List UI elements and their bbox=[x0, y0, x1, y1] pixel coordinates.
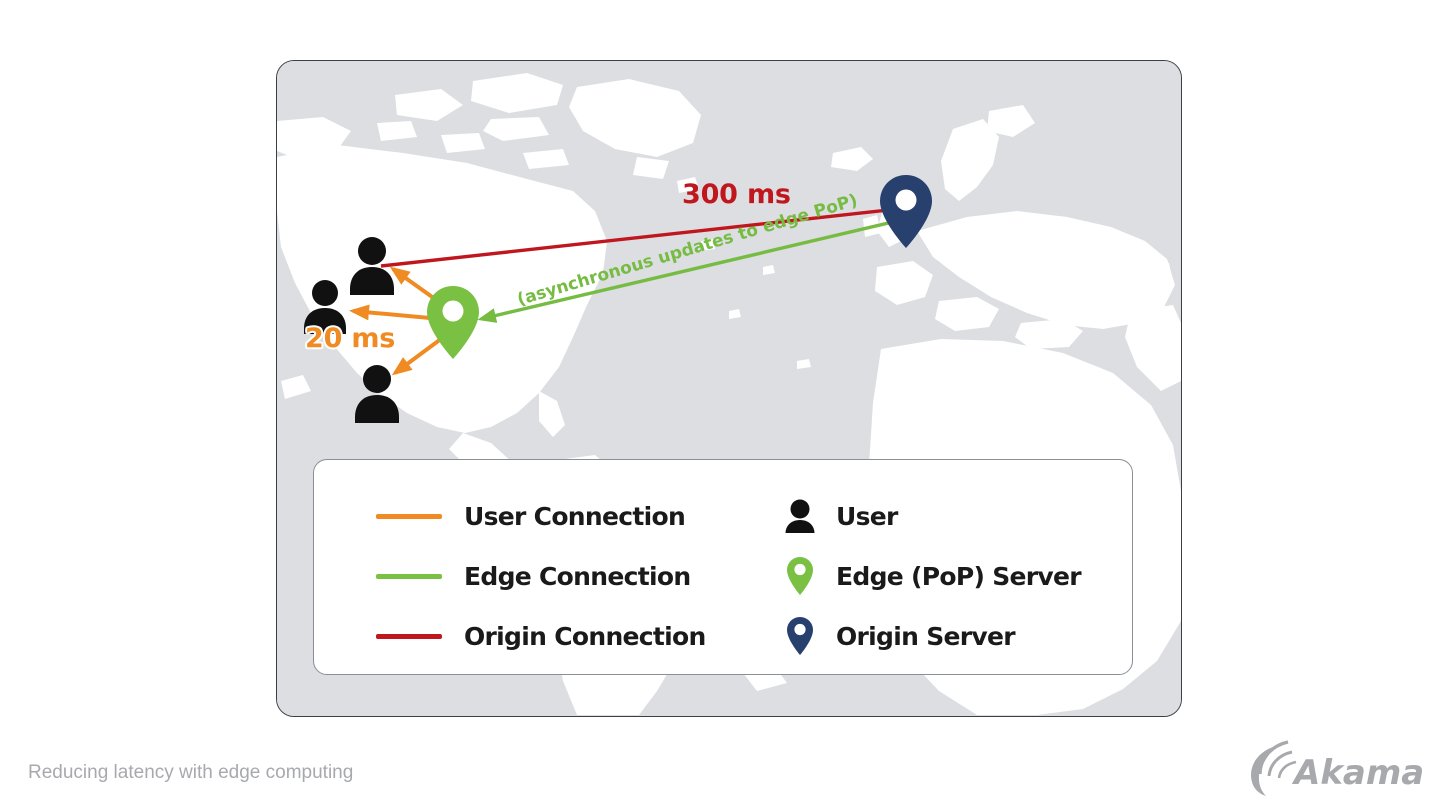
user-icon-south bbox=[355, 365, 399, 423]
legend-item-edge-server: Edge (PoP) Server bbox=[782, 546, 1081, 606]
legend-item-user-connection: User Connection bbox=[376, 486, 706, 546]
user-icon bbox=[782, 496, 818, 536]
map-pin-green-icon bbox=[782, 556, 818, 596]
legend-item-edge-connection: Edge Connection bbox=[376, 546, 706, 606]
line-swatch-red-icon bbox=[376, 634, 442, 639]
legend-column-nodes: User Edge (PoP) Server bbox=[782, 486, 1081, 666]
line-swatch-green-icon bbox=[376, 574, 442, 579]
legend-item-origin-connection: Origin Connection bbox=[376, 606, 706, 666]
line-swatch-orange-icon bbox=[376, 514, 442, 519]
legend-box: User Connection Edge Connection Origin C… bbox=[313, 459, 1133, 675]
figure-caption: Reducing latency with edge computing bbox=[28, 762, 353, 784]
origin-server-pin-icon bbox=[880, 175, 932, 248]
legend-item-user: User bbox=[782, 486, 1081, 546]
akamai-logo: Akamai bbox=[1242, 738, 1422, 800]
legend-label-edge-connection: Edge Connection bbox=[464, 562, 690, 591]
legend-item-origin-server: Origin Server bbox=[782, 606, 1081, 666]
legend-label-edge-server: Edge (PoP) Server bbox=[836, 562, 1081, 591]
edge-connection-line bbox=[481, 221, 897, 319]
edge-pop-server-pin-icon bbox=[427, 286, 479, 359]
world-map-panel: 300 ms 20 ms (asynchronous updates to ed… bbox=[276, 60, 1182, 717]
akamai-wordmark: Akamai bbox=[1291, 753, 1422, 793]
legend-column-connections: User Connection Edge Connection Origin C… bbox=[376, 486, 706, 666]
legend-label-user-connection: User Connection bbox=[464, 502, 685, 531]
legend-label-origin-connection: Origin Connection bbox=[464, 622, 706, 651]
legend-label-origin-server: Origin Server bbox=[836, 622, 1015, 651]
map-pin-navy-icon bbox=[782, 616, 818, 656]
legend-label-user: User bbox=[836, 502, 898, 531]
user-icon-west bbox=[304, 280, 346, 334]
